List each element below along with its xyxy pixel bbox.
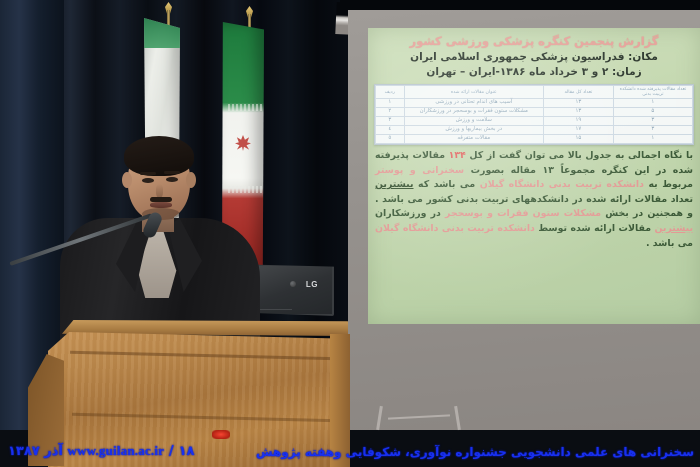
cell-title: مقالات متفرقه [404, 135, 543, 144]
th-total: تعداد کل مقاله [544, 86, 614, 99]
cell-total: ۱۵ [544, 135, 614, 144]
cell-accepted: ۳ [613, 117, 692, 126]
flag-kufic-band-top [226, 104, 264, 111]
speaker-hair [124, 136, 194, 176]
speaker-nose [156, 184, 163, 198]
para-highlight-faculty-2: دانشکده تربیت بدنی دانشگاه گیلان [375, 223, 535, 234]
cell-title: سلامت و ورزش [404, 117, 543, 126]
table-row: ۳ ۱۷ در بخش بیماریها و ورزش ٤ [376, 126, 693, 135]
slide-title: گزارش پنجمین کنگره پزشکی ورزشی کشور [376, 34, 692, 49]
cell-total: ۱۳ [544, 108, 614, 117]
footer-site-and-date: www.guilan.ac.ir / ۱۸ آذر ۱۳۸۷ [8, 443, 194, 459]
cell-rank: ۱ [376, 99, 405, 108]
table-row: ۵ ۱۳ مشکلات ستون فقرات و بوسحجر در ورزشک… [376, 108, 693, 117]
table-header-row: تعداد مقالات پذیرفته شده دانشکده تربیت ب… [376, 86, 693, 99]
th-rank: ردیف [376, 86, 405, 99]
speaker-eyebrow-right [164, 171, 180, 174]
cell-rank: ۲ [376, 108, 405, 117]
cell-total: ۱۳ [544, 99, 614, 108]
para-highlight-most-2: بیشترین [654, 223, 693, 234]
para-highlight-most-1: بیشترین [375, 179, 414, 190]
speaker-eyebrow-left [140, 172, 156, 175]
speaker-ear-right [186, 172, 196, 188]
para-seg-6: در ورزشکاران [375, 208, 445, 219]
speaker-person [60, 140, 260, 350]
footer-overlay: www.guilan.ac.ir / ۱۸ آذر ۱۳۸۷ سخنرانی ه… [0, 427, 700, 467]
para-seg-3: مربوط به [644, 179, 693, 190]
para-highlight-faculty-1: دانشکده تربیت بدنی دانشگاه گیلان [480, 179, 644, 190]
para-highlight-spine-topic: مشکلات ستون فقرات و بوسحجر [445, 208, 601, 219]
photo-scene: گزارش پنجمین کنگره پزشکی ورزشی کشور مکان… [0, 0, 700, 467]
table-row: ۳ ۱۹ سلامت و ورزش ۳ [376, 117, 693, 126]
cell-rank: ۳ [376, 117, 405, 126]
footer-separator: / [164, 444, 178, 459]
para-highlight-total-count: ۱۳۴ [449, 150, 466, 161]
slide-date-line: زمان: ۲ و ۳ خرداد ماه ۱۳۸۶-ایران – تهران [378, 65, 690, 79]
th-title: عنوان مقالات ارائه شده [404, 86, 543, 99]
cell-accepted: ۱ [613, 135, 692, 144]
cell-rank: ٥ [376, 135, 405, 144]
cell-total: ۱۷ [544, 126, 614, 135]
screen-stand-crossbar [388, 414, 450, 419]
table-row: ۱ ۱۵ مقالات متفرقه ٥ [376, 135, 693, 144]
table-row: ۱ ۱۳ آسیب های اندام تحتانی در ورزشی ۱ [376, 99, 693, 108]
slide-table-wrapper: تعداد مقالات پذیرفته شده دانشکده تربیت ب… [374, 84, 694, 145]
para-seg-7: مقالات ارائه شده توسط [535, 223, 655, 234]
footer-url: www.guilan.ac.ir [67, 443, 164, 458]
articles-table: تعداد مقالات پذیرفته شده دانشکده تربیت ب… [375, 85, 693, 144]
para-seg-4: می باشد که [414, 179, 480, 190]
speaker-eye-left [142, 178, 154, 183]
footer-caption: سخنرانی های علمی دانشجویی جشنواره نوآوری… [256, 445, 694, 459]
cell-accepted: ۳ [613, 126, 692, 135]
cell-title: آسیب های اندام تحتانی در ورزشی [404, 99, 543, 108]
speaker-ear-left [122, 172, 132, 188]
slide-paragraph: با نگاه اجمالی به جدول بالا می توان گفت … [375, 149, 693, 251]
slide-content: گزارش پنجمین کنگره پزشکی ورزشی کشور مکان… [368, 28, 700, 324]
slide-venue-line: مکان: فدراسیون پزشکی جمهوری اسلامی ایران [378, 50, 690, 64]
cell-accepted: ۱ [613, 99, 692, 108]
monitor-brand-label: LG [306, 280, 318, 289]
para-seg-1: با نگاه اجمالی به جدول بالا می توان گفت … [466, 150, 693, 161]
speaker-eye-right [166, 177, 178, 182]
monitor-power-led-icon [290, 281, 296, 287]
cell-total: ۱۹ [544, 117, 614, 126]
para-seg-8: می باشد . [646, 238, 693, 249]
cell-rank: ٤ [376, 126, 405, 135]
th-accepted: تعداد مقالات پذیرفته شده دانشکده تربیت ب… [613, 86, 692, 99]
para-highlight-lecture-poster: سخنرانی و پوستر [375, 165, 464, 176]
projection-screen: گزارش پنجمین کنگره پزشکی ورزشی کشور مکان… [348, 10, 700, 430]
cell-title: در بخش بیماریها و ورزش [404, 126, 543, 135]
cell-title: مشکلات ستون فقرات و بوسحجر در ورزشکاران [404, 108, 543, 117]
cell-accepted: ۵ [613, 108, 692, 117]
